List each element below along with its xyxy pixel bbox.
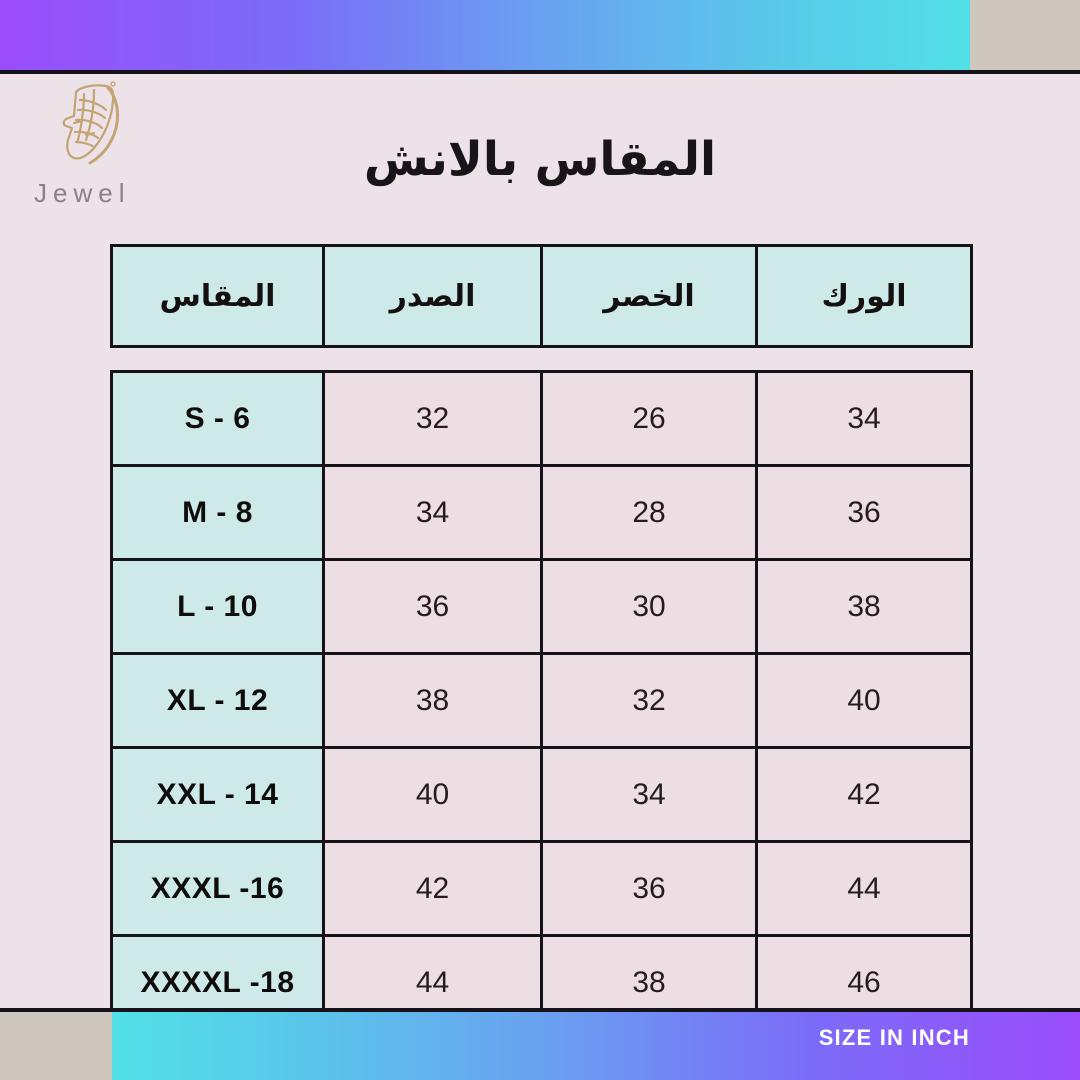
top-right-background-fill	[970, 0, 1080, 70]
table-row: S - 6 32 26 34	[112, 372, 972, 466]
cell-hip: 44	[757, 842, 972, 936]
table-row: XL - 12 38 32 40	[112, 654, 972, 748]
cell-size: XXXL -16	[112, 842, 324, 936]
cell-chest: 32	[324, 372, 542, 466]
size-chart-header-table: المقاس الصدر الخصر الورك	[110, 244, 973, 348]
cell-hip: 42	[757, 748, 972, 842]
cell-waist: 30	[542, 560, 757, 654]
cell-size: XXL - 14	[112, 748, 324, 842]
table-header-row: المقاس الصدر الخصر الورك	[112, 246, 972, 347]
cell-size: L - 10	[112, 560, 324, 654]
cell-chest: 38	[324, 654, 542, 748]
cell-waist: 28	[542, 466, 757, 560]
top-gradient-banner	[0, 0, 970, 70]
table-row: M - 8 34 28 36	[112, 466, 972, 560]
size-chart-body-table: S - 6 32 26 34 M - 8 34 28 36 L - 10 36 …	[110, 370, 973, 1031]
table-row: XXL - 14 40 34 42	[112, 748, 972, 842]
column-header-chest: الصدر	[324, 246, 542, 347]
bottom-left-background-fill	[0, 1012, 112, 1080]
cell-chest: 42	[324, 842, 542, 936]
cell-hip: 40	[757, 654, 972, 748]
page-title: المقاس بالانش	[0, 132, 1080, 187]
cell-size: M - 8	[112, 466, 324, 560]
cell-hip: 36	[757, 466, 972, 560]
cell-chest: 40	[324, 748, 542, 842]
cell-waist: 26	[542, 372, 757, 466]
cell-hip: 38	[757, 560, 972, 654]
cell-chest: 34	[324, 466, 542, 560]
column-header-size: المقاس	[112, 246, 324, 347]
size-chart-poster: Jewel المقاس بالانش المقاس الصدر الخصر ا…	[0, 0, 1080, 1080]
cell-chest: 36	[324, 560, 542, 654]
cell-waist: 36	[542, 842, 757, 936]
table-row: XXXL -16 42 36 44	[112, 842, 972, 936]
cell-size: XL - 12	[112, 654, 324, 748]
footer-label: SIZE IN INCH	[819, 1025, 970, 1051]
column-header-hip: الورك	[757, 246, 972, 347]
column-header-waist: الخصر	[542, 246, 757, 347]
cell-hip: 34	[757, 372, 972, 466]
table-row: L - 10 36 30 38	[112, 560, 972, 654]
top-banner-divider	[0, 70, 1080, 74]
cell-waist: 32	[542, 654, 757, 748]
cell-size: S - 6	[112, 372, 324, 466]
cell-waist: 34	[542, 748, 757, 842]
